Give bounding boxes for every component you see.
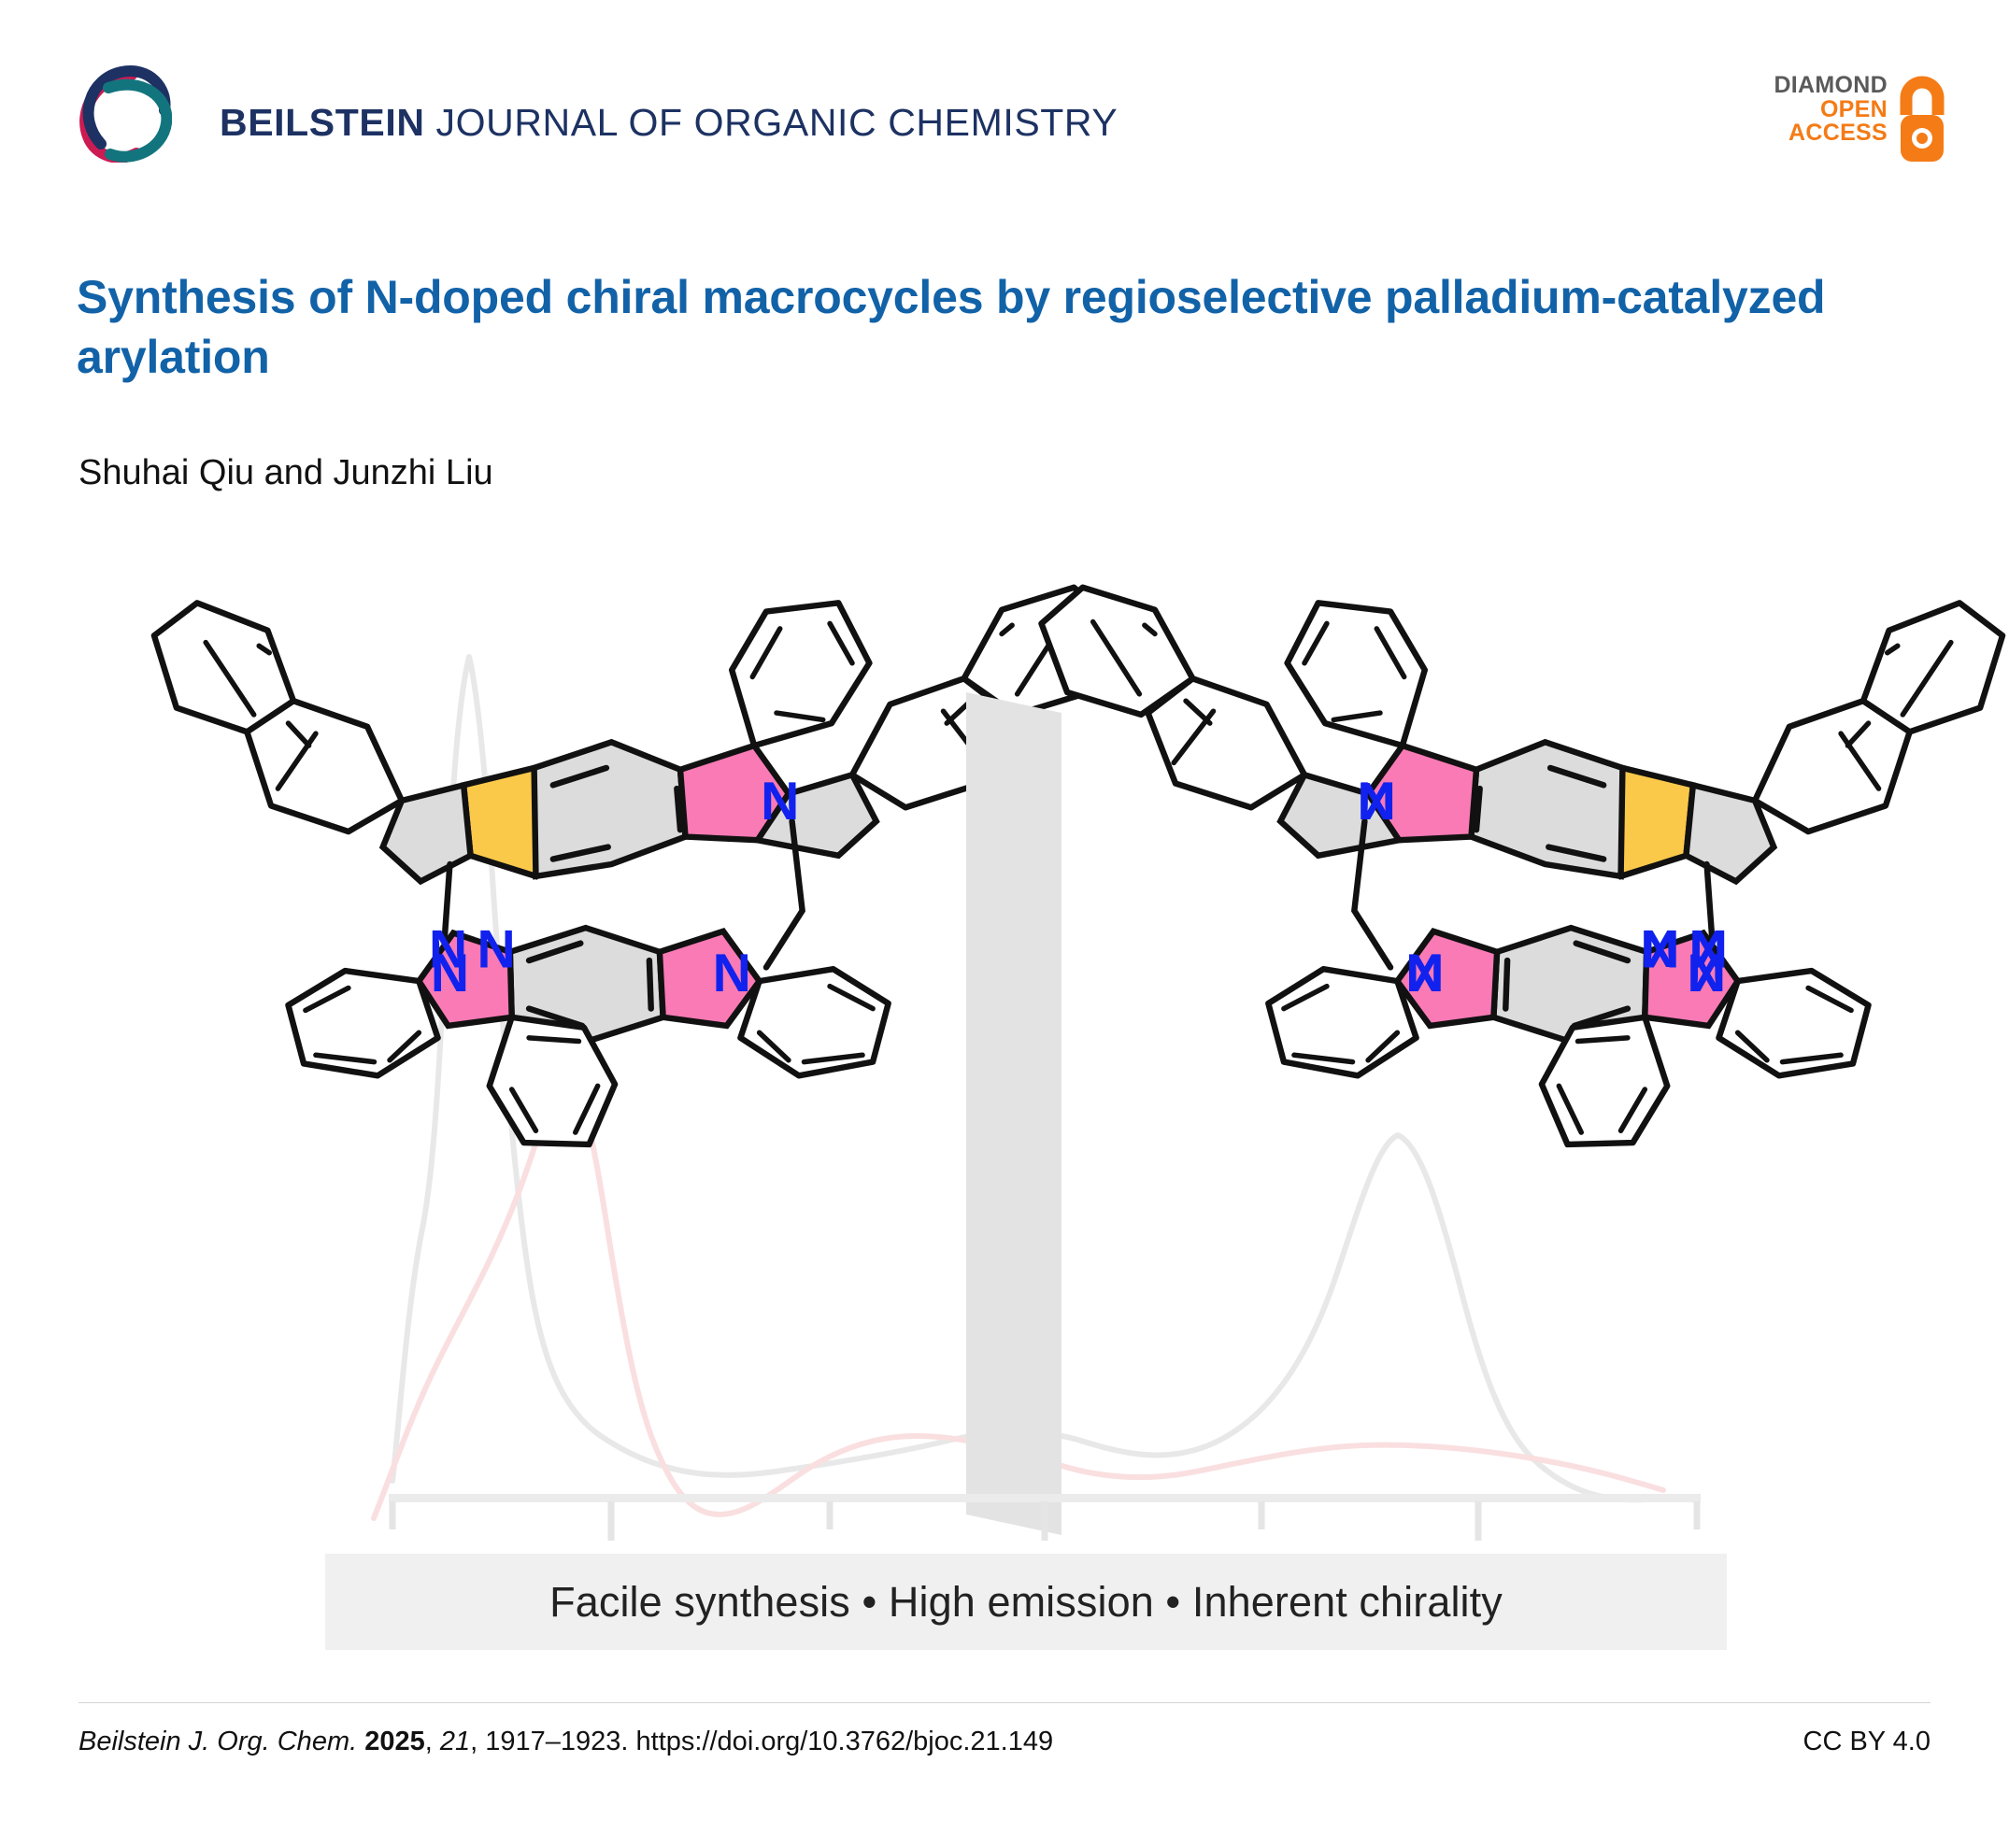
open-access-line-access: ACCESS bbox=[1774, 121, 1888, 146]
article-cover-page: BEILSTEIN JOURNAL OF ORGANIC CHEMISTRY D… bbox=[0, 0, 2009, 1848]
citation-year: 2025 bbox=[364, 1727, 425, 1756]
journal-title: BEILSTEIN JOURNAL OF ORGANIC CHEMISTRY bbox=[220, 101, 1118, 145]
citation-pages: , 1917–1923. bbox=[470, 1727, 635, 1756]
svg-text:N: N bbox=[1357, 772, 1395, 832]
open-lock-icon bbox=[1893, 72, 1951, 165]
masthead: BEILSTEIN JOURNAL OF ORGANIC CHEMISTRY D… bbox=[0, 0, 2009, 196]
journal-title-rest: JOURNAL OF ORGANIC CHEMISTRY bbox=[425, 101, 1118, 144]
svg-text:N: N bbox=[1640, 919, 1678, 979]
footer-divider bbox=[78, 1702, 1931, 1703]
open-access-line-diamond: DIAMOND bbox=[1774, 74, 1888, 98]
citation-comma: , bbox=[425, 1727, 440, 1756]
tagline-text: Facile synthesis • High emission • Inher… bbox=[549, 1578, 1503, 1627]
open-access-text: DIAMOND OPEN ACCESS bbox=[1774, 74, 1888, 146]
mirror-plane bbox=[966, 692, 1061, 1535]
citation-doi-link[interactable]: https://doi.org/10.3762/bjoc.21.149 bbox=[636, 1727, 1054, 1756]
footer: Beilstein J. Org. Chem. 2025, 21, 1917–1… bbox=[78, 1727, 1931, 1775]
journal-title-strong: BEILSTEIN bbox=[220, 101, 425, 144]
chiral-macrocycle-enantiomer-right bbox=[1041, 588, 2002, 1144]
citation: Beilstein J. Org. Chem. 2025, 21, 1917–1… bbox=[78, 1727, 1053, 1757]
author-list: Shuhai Qiu and Junzhi Liu bbox=[78, 453, 493, 493]
graphical-abstract: N N N N N bbox=[0, 537, 2009, 1640]
citation-journal: Beilstein J. Org. Chem. bbox=[78, 1727, 364, 1756]
open-access-badge: DIAMOND OPEN ACCESS bbox=[1755, 70, 1951, 168]
citation-volume: 21 bbox=[440, 1727, 470, 1756]
beilstein-swirl-logo bbox=[73, 64, 172, 163]
open-access-line-open: OPEN bbox=[1774, 98, 1888, 122]
page-title: Synthesis of N-doped chiral macrocycles … bbox=[77, 267, 1908, 387]
license-label: CC BY 4.0 bbox=[1803, 1727, 1931, 1757]
svg-text:N: N bbox=[1405, 944, 1444, 1003]
svg-text:N: N bbox=[1688, 919, 1727, 979]
tagline-banner: Facile synthesis • High emission • Inher… bbox=[325, 1554, 1727, 1650]
